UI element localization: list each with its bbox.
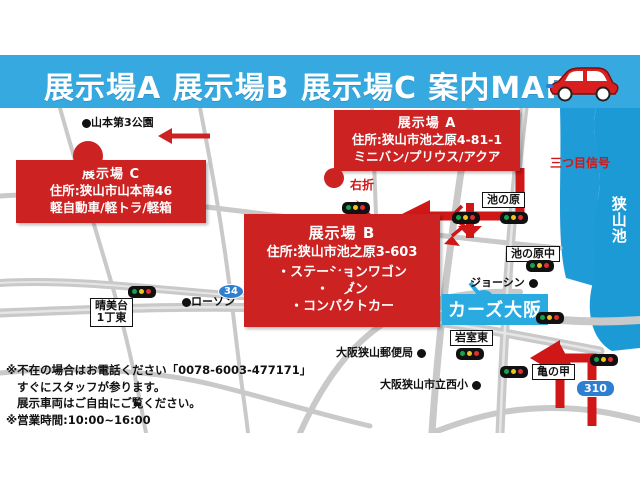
traffic-signal-icon — [128, 286, 156, 298]
landmark-post-office-label: 大阪狭山郵便局 — [336, 346, 413, 359]
traffic-signal-icon — [342, 202, 370, 214]
intersection-iwamuro-higashi: 岩室東 — [450, 330, 493, 346]
traffic-signal-icon — [456, 348, 484, 360]
shop-name-badge[interactable]: カーズ大阪 — [442, 294, 548, 325]
traffic-signal-icon — [536, 312, 564, 324]
sayama-pond-label: 狭山池 — [610, 196, 626, 244]
note-line-3: 展示車両はご自由にご覧ください。 — [6, 395, 306, 412]
footer-notes: ※不在の場合はお電話ください「0078-6003-477171」 すぐにスタッフ… — [6, 362, 306, 429]
landmark-dot — [529, 279, 538, 288]
traffic-signal-icon — [590, 354, 618, 366]
dot-showroom-a — [324, 168, 344, 188]
landmark-dot — [82, 119, 91, 128]
note-line-1: ※不在の場合はお電話ください「0078-6003-477171」 — [6, 362, 306, 379]
page-title: 展示場A 展示場B 展示場C 案内MAP — [44, 63, 569, 107]
map-page: 展示場A 展示場B 展示場C 案内MAP — [0, 0, 640, 480]
intersection-ikenohara-line-0: 池の原 — [487, 194, 520, 206]
traffic-signal-icon — [526, 260, 554, 272]
route-34-shield: 34 — [218, 284, 244, 299]
intersection-kamenoko-line-0: 亀の甲 — [537, 366, 570, 378]
intersection-iwamuro-higashi-line-0: 岩室東 — [455, 332, 488, 344]
landmark-joshin-label: ジョーシン — [470, 276, 525, 289]
annotation-turn-right: 右折 — [350, 176, 374, 193]
note-line-2: すぐにスタッフが参ります。 — [6, 379, 306, 396]
dot-showroom-c — [73, 141, 103, 171]
intersection-harumidai-line-1: 1丁東 — [95, 312, 128, 324]
traffic-signal-icon — [500, 366, 528, 378]
landmark-nishi-elementary-label: 大阪狭山市立西小 — [380, 378, 468, 391]
traffic-signal-icon — [452, 212, 480, 224]
landmark-post-office: 大阪狭山郵便局 — [336, 344, 426, 360]
route-310-shield: 310 — [576, 380, 615, 397]
header-banner: 展示場A 展示場B 展示場C 案内MAP — [0, 55, 640, 108]
intersection-ikenohara: 池の原 — [482, 192, 525, 208]
note-line-4: ※営業時間:10:00~16:00 — [6, 412, 306, 429]
intersection-kamenoko: 亀の甲 — [532, 364, 575, 380]
landmark-joshin: ジョーシン — [470, 274, 538, 290]
intersection-harumidai: 晴美台 1丁東 — [90, 298, 133, 327]
landmark-yamamoto-park-label: 山本第3公園 — [91, 116, 154, 129]
dot-showroom-b — [326, 271, 350, 295]
intersection-ikenohara-naka-line-0: 池の原中 — [511, 248, 555, 260]
landmark-dot — [417, 349, 426, 358]
landmark-dot — [182, 298, 191, 307]
landmark-yamamoto-park: 山本第3公園 — [82, 114, 154, 130]
landmark-nishi-elementary: 大阪狭山市立西小 — [380, 376, 481, 392]
annotation-third-signal: 三つ目信号 — [550, 154, 610, 171]
landmark-dot — [472, 381, 481, 390]
red-car-icon — [545, 63, 621, 103]
traffic-signal-icon — [500, 212, 528, 224]
